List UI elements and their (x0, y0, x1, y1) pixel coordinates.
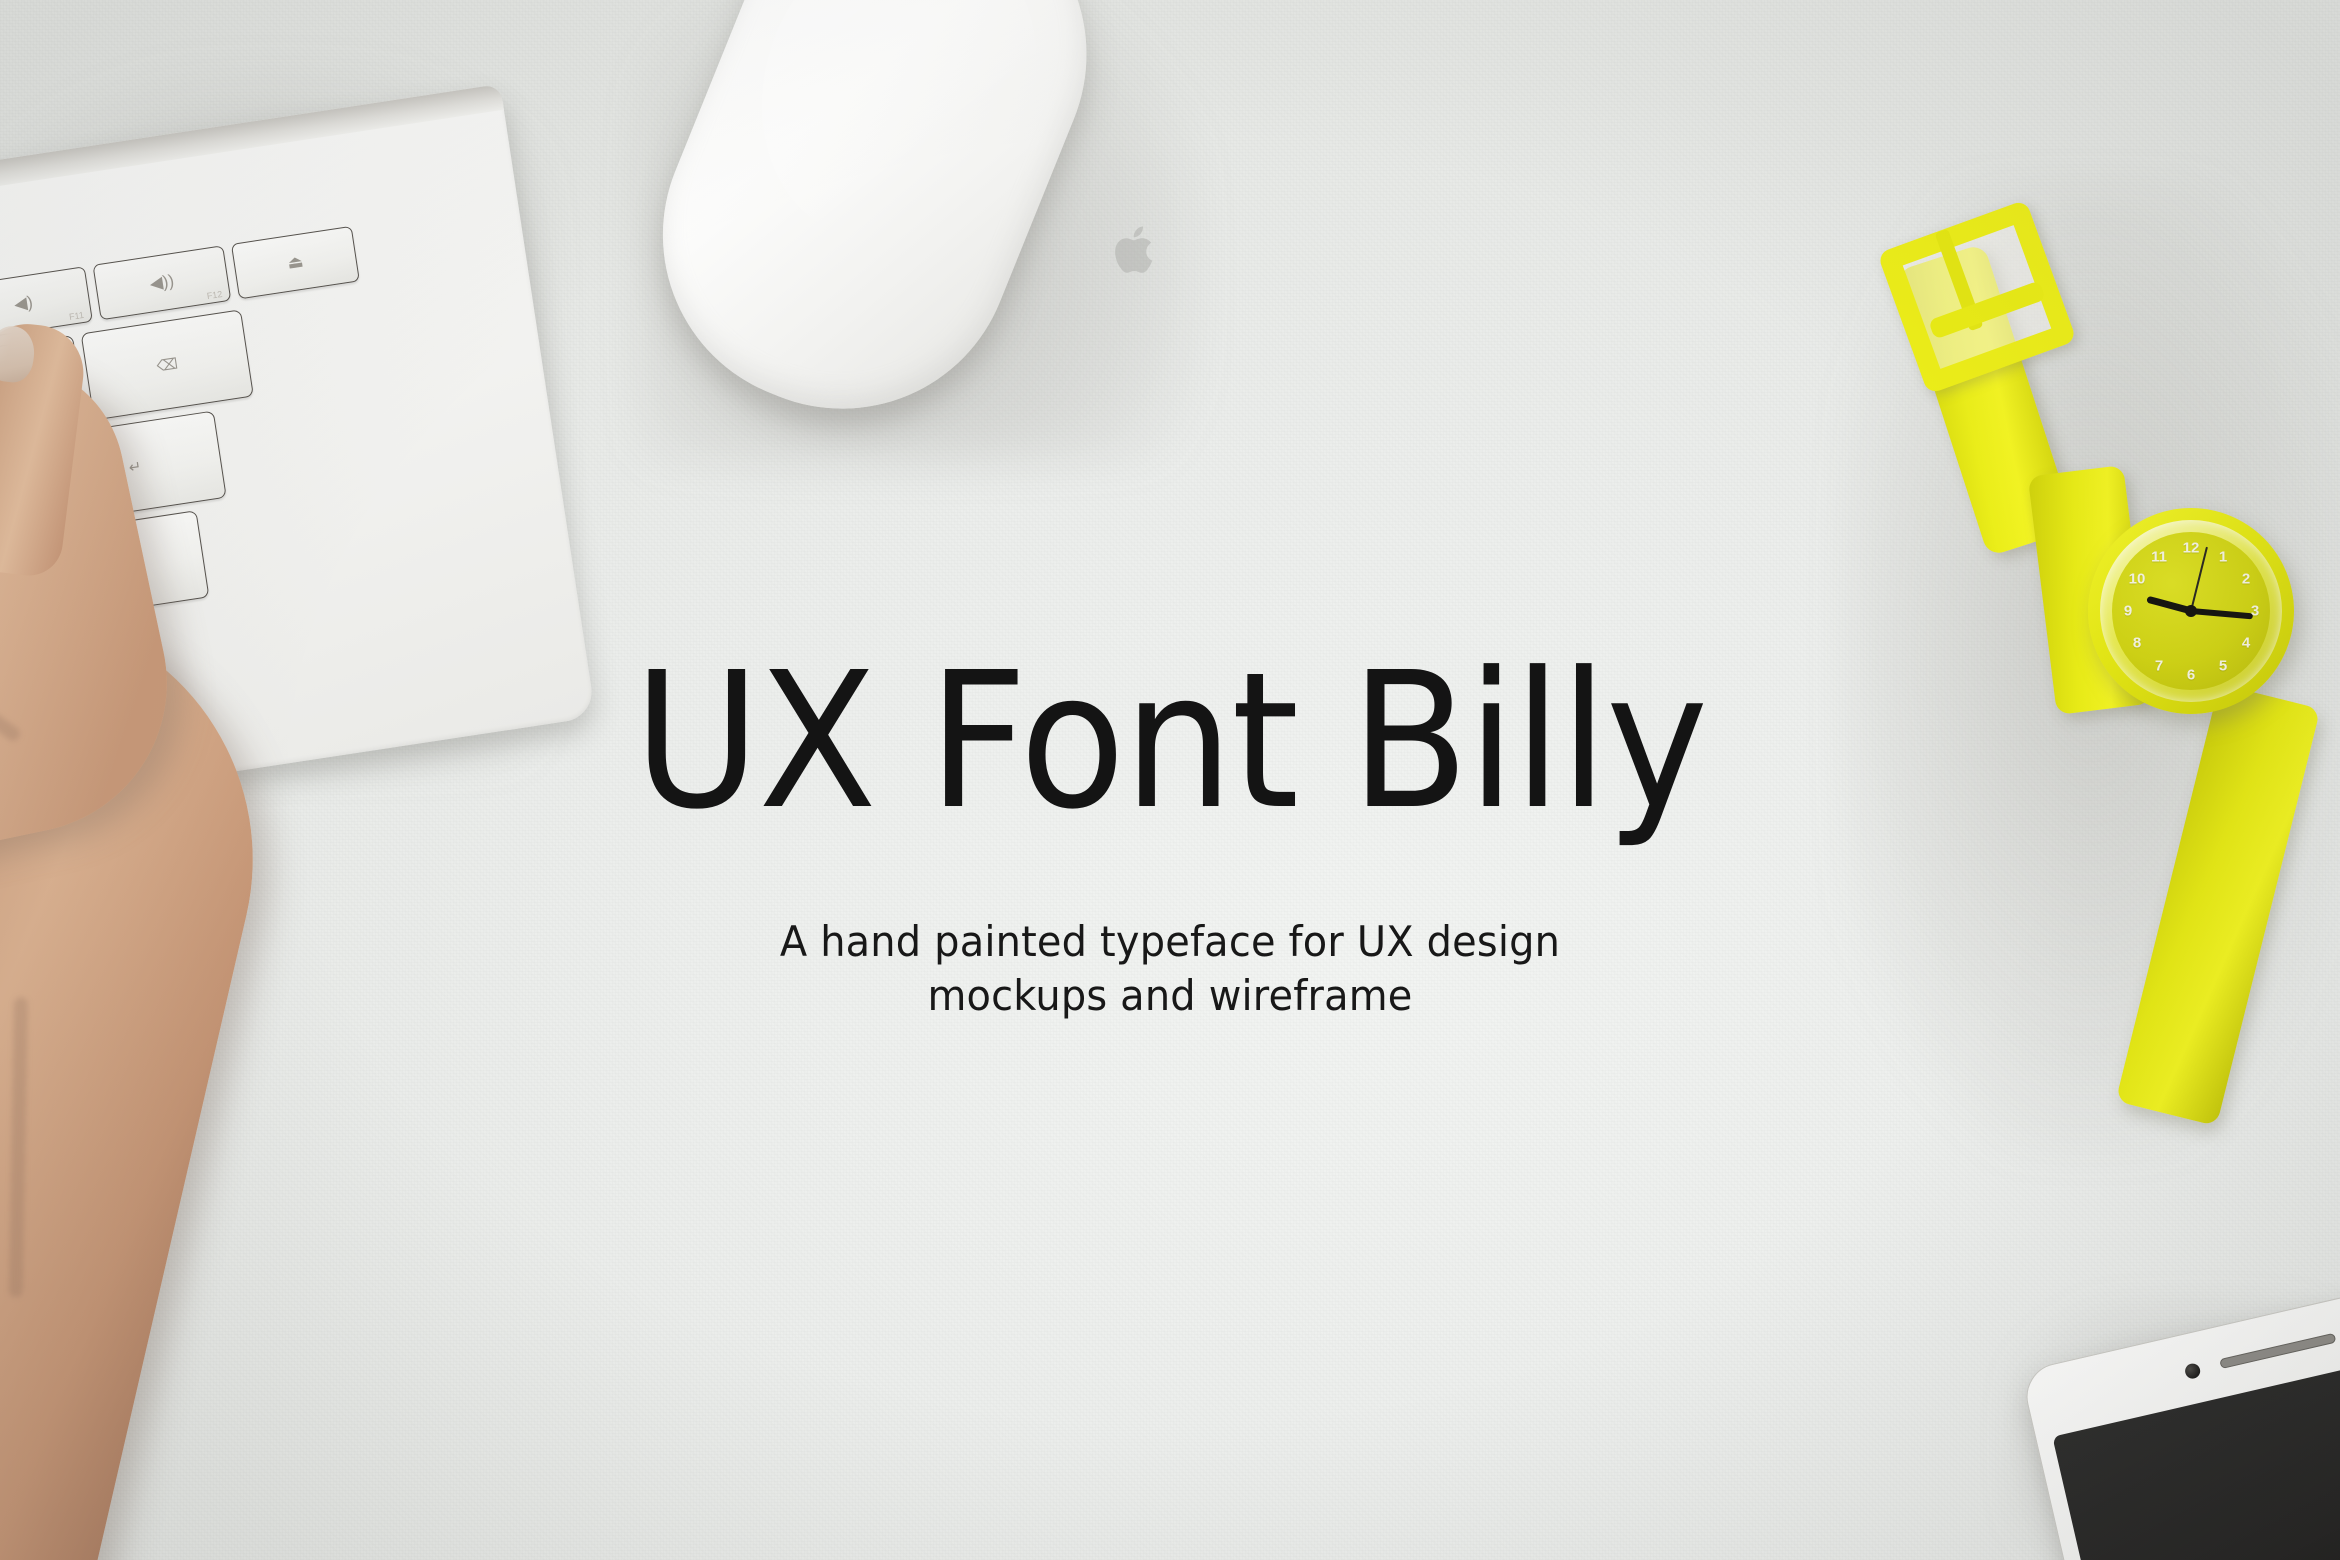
watch-numeral-2: 2 (2242, 571, 2250, 588)
apple-logo-icon (1112, 222, 1160, 278)
page-title: UX Font Billy (94, 648, 2247, 836)
page-subtitle: A hand painted typeface for UX design mo… (59, 915, 2282, 1023)
phone-screen[interactable] (2052, 1354, 2340, 1560)
watch-numeral-9: 9 (2124, 603, 2132, 620)
watch-numeral-1: 1 (2219, 549, 2227, 566)
watch-numeral-11: 11 (2151, 549, 2167, 566)
earpiece-speaker (2219, 1333, 2336, 1369)
poster-canvas: ▶▶F9 ◀F10 ◀)F11 ◀))F12 ⏏ 9 0 − + ⌫ P [ ]… (0, 0, 2340, 1560)
front-camera-icon (2184, 1362, 2202, 1380)
watch-numeral-12: 12 (2183, 540, 2200, 557)
watch-numeral-10: 10 (2129, 571, 2146, 588)
watch-hand-cap (2185, 605, 2197, 617)
watch-minute-hand (2191, 608, 2253, 619)
subtitle-line-1: A hand painted typeface for UX design (59, 915, 2282, 969)
subtitle-line-2: mockups and wireframe (59, 969, 2282, 1023)
